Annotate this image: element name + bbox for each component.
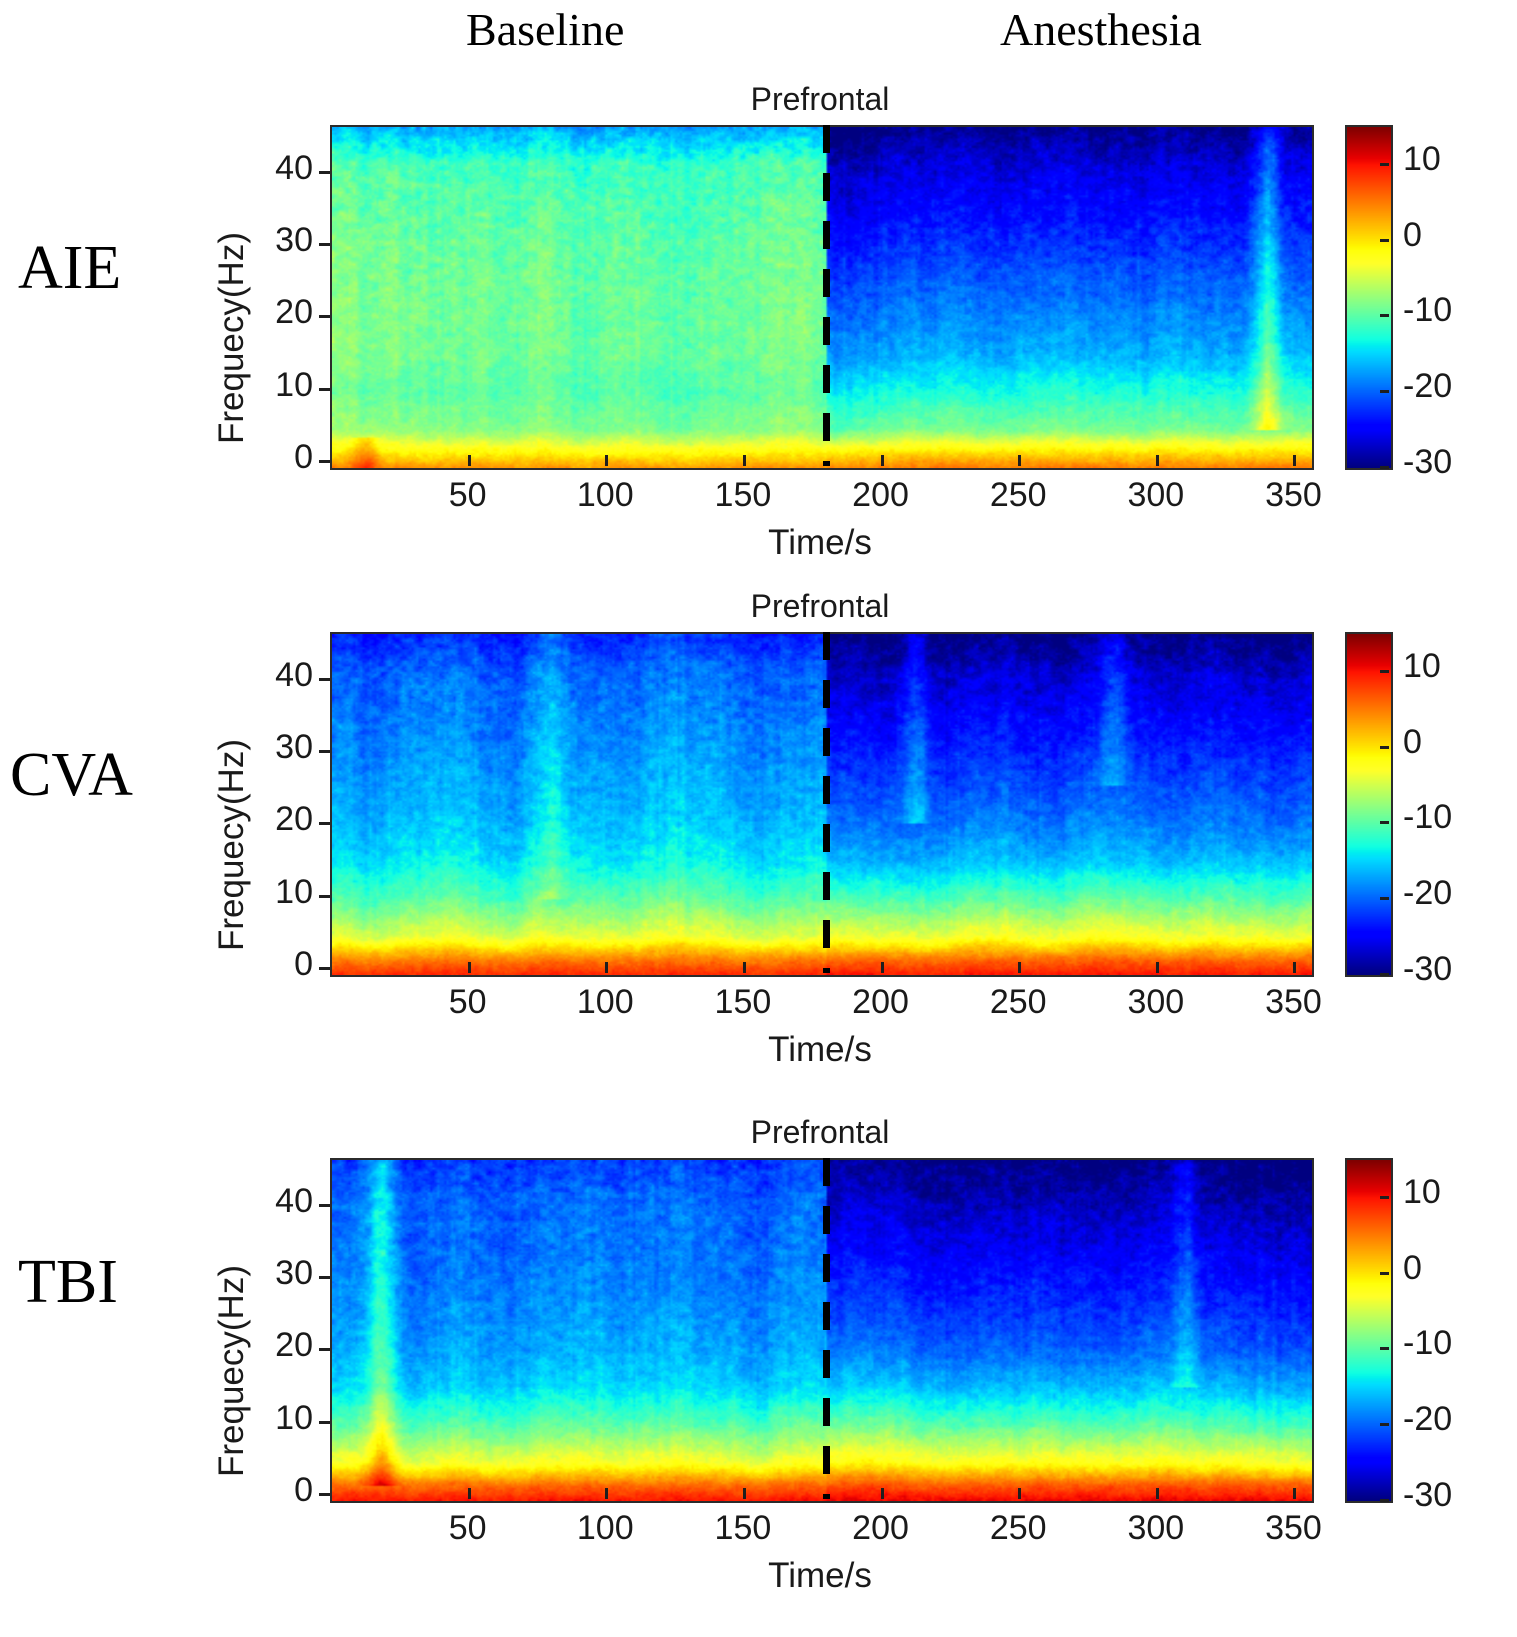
x-axis-tick [1156, 962, 1159, 973]
x-axis-tick [1018, 962, 1021, 973]
row-label-tbi: TBI [18, 1247, 118, 1318]
y-axis-tick [319, 895, 330, 898]
x-axis-tick-label: 200 [821, 1509, 941, 1548]
y-axis-tick [319, 460, 330, 463]
colorbar-tick [1380, 1196, 1389, 1199]
x-axis-tick [881, 1488, 884, 1499]
transition-dashed-line [823, 125, 830, 466]
x-axis-tick-label: 350 [1233, 983, 1353, 1022]
x-axis-tick [743, 1488, 746, 1499]
x-axis-tick-label: 150 [683, 983, 803, 1022]
colorbar [1345, 125, 1393, 470]
x-axis-tick-label: 100 [545, 1509, 665, 1548]
x-axis-tick-label: 350 [1233, 1509, 1353, 1548]
y-axis-label: Frequecy(Hz) [212, 739, 252, 951]
transition-dashed-line [823, 632, 830, 973]
colorbar-tick [1380, 466, 1389, 469]
x-axis-tick [468, 455, 471, 466]
y-axis-tick [319, 967, 330, 970]
x-axis-tick-label: 300 [1096, 1509, 1216, 1548]
colorbar-tick-label: -20 [1403, 367, 1452, 406]
x-axis-label: Time/s [330, 523, 1310, 563]
colorbar-tick [1380, 390, 1389, 393]
colorbar-tick-label: 10 [1403, 647, 1441, 686]
colorbar-tick [1380, 821, 1389, 824]
x-axis-tick-label: 50 [408, 983, 528, 1022]
colorbar-tick [1380, 973, 1389, 976]
colorbar [1345, 1158, 1393, 1503]
colorbar-tick [1380, 314, 1389, 317]
y-axis-tick [319, 750, 330, 753]
y-axis-label: Frequecy(Hz) [212, 1265, 252, 1477]
x-axis-tick-label: 200 [821, 983, 941, 1022]
colorbar-tick-label: 0 [1403, 216, 1422, 255]
figure-spectrogram-grid: Baseline Anesthesia AIE CVA TBI Prefront… [0, 0, 1517, 1637]
x-axis-tick [1018, 1488, 1021, 1499]
x-axis-label: Time/s [330, 1556, 1310, 1596]
x-axis-tick [1293, 455, 1296, 466]
y-axis-tick-label: 40 [225, 1182, 313, 1221]
y-axis-tick [319, 243, 330, 246]
x-axis-tick-label: 100 [545, 476, 665, 515]
y-axis-tick [319, 1348, 330, 1351]
colorbar-tick-label: 10 [1403, 140, 1441, 179]
colorbar-tick-label: -30 [1403, 950, 1452, 989]
x-axis-tick [1293, 962, 1296, 973]
x-axis-tick-label: 50 [408, 1509, 528, 1548]
x-axis-tick [605, 962, 608, 973]
colorbar-tick [1380, 897, 1389, 900]
x-axis-tick-label: 50 [408, 476, 528, 515]
colorbar-tick [1380, 1347, 1389, 1350]
colorbar-tick-label: -10 [1403, 291, 1452, 330]
colorbar-tick-label: -10 [1403, 1324, 1452, 1363]
y-axis-tick [319, 1204, 330, 1207]
x-axis-tick [468, 1488, 471, 1499]
y-axis-tick [319, 822, 330, 825]
condition-label-baseline: Baseline [466, 3, 624, 56]
y-axis-tick [319, 1421, 330, 1424]
x-axis-tick [605, 1488, 608, 1499]
x-axis-tick-label: 350 [1233, 476, 1353, 515]
colorbar [1345, 632, 1393, 977]
x-axis-tick [1156, 1488, 1159, 1499]
x-axis-tick-label: 300 [1096, 476, 1216, 515]
x-axis-tick-label: 300 [1096, 983, 1216, 1022]
subplot-title: Prefrontal [330, 81, 1310, 118]
colorbar-tick-label: -30 [1403, 1476, 1452, 1515]
x-axis-tick [881, 962, 884, 973]
subplot-title: Prefrontal [330, 588, 1310, 625]
x-axis-tick-label: 250 [958, 476, 1078, 515]
colorbar-tick-label: -20 [1403, 1400, 1452, 1439]
x-axis-tick [605, 455, 608, 466]
y-axis-tick-label: 40 [225, 149, 313, 188]
colorbar-tick [1380, 163, 1389, 166]
row-label-cva: CVA [10, 740, 133, 811]
x-axis-tick [1293, 1488, 1296, 1499]
y-axis-tick [319, 1276, 330, 1279]
condition-label-anesthesia: Anesthesia [1000, 3, 1202, 56]
y-axis-tick [319, 1493, 330, 1496]
x-axis-tick-label: 200 [821, 476, 941, 515]
colorbar-tick-label: 0 [1403, 723, 1422, 762]
y-axis-tick [319, 388, 330, 391]
y-axis-tick [319, 678, 330, 681]
colorbar-tick [1380, 239, 1389, 242]
x-axis-tick [743, 455, 746, 466]
colorbar-tick [1380, 1423, 1389, 1426]
colorbar-tick [1380, 670, 1389, 673]
colorbar-tick-label: -30 [1403, 443, 1452, 482]
y-axis-label: Frequecy(Hz) [212, 232, 252, 444]
x-axis-tick [468, 962, 471, 973]
colorbar-tick-label: 10 [1403, 1173, 1441, 1212]
y-axis-tick [319, 171, 330, 174]
x-axis-tick-label: 250 [958, 1509, 1078, 1548]
colorbar-tick [1380, 1499, 1389, 1502]
colorbar-tick-label: -10 [1403, 798, 1452, 837]
transition-dashed-line [823, 1158, 830, 1499]
subplot-title: Prefrontal [330, 1114, 1310, 1151]
x-axis-tick-label: 150 [683, 1509, 803, 1548]
colorbar-tick-label: -20 [1403, 874, 1452, 913]
x-axis-tick [1018, 455, 1021, 466]
x-axis-tick [881, 455, 884, 466]
x-axis-label: Time/s [330, 1030, 1310, 1070]
x-axis-tick-label: 250 [958, 983, 1078, 1022]
colorbar-tick [1380, 746, 1389, 749]
x-axis-tick-label: 150 [683, 476, 803, 515]
colorbar-tick [1380, 1272, 1389, 1275]
x-axis-tick-label: 100 [545, 983, 665, 1022]
y-axis-tick-label: 40 [225, 656, 313, 695]
row-label-aie: AIE [18, 233, 121, 304]
x-axis-tick [1156, 455, 1159, 466]
x-axis-tick [743, 962, 746, 973]
colorbar-tick-label: 0 [1403, 1249, 1422, 1288]
y-axis-tick [319, 315, 330, 318]
